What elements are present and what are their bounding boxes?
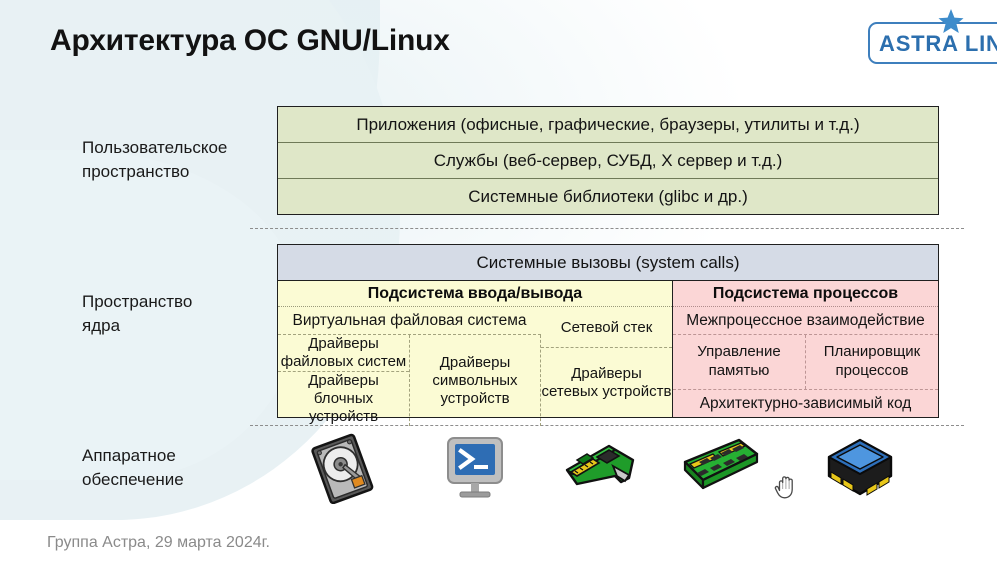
fs-drivers-cell: Драйверы файловых систем [278,335,409,372]
cpu-chip-icon [817,432,903,504]
section-label-userspace: Пользовательское пространство [82,136,227,184]
ipc-cell: Межпроцессное взаимодействие [673,307,938,335]
section-label-kernelspace: Пространство ядра [82,290,192,338]
hand-cursor [774,472,800,502]
slide-canvas: Архитектура ОС GNU/Linux ASTRA LIN Польз… [0,0,997,576]
separator-userspace-kernel [250,228,964,229]
process-mid-group: Управление памятью Планировщик процессов [673,335,938,390]
monitor-terminal-icon [432,432,518,504]
system-calls-bar: Системные вызовы (system calls) [278,245,938,281]
logo-text: ASTRA LIN [879,31,997,57]
io-subsystem-title: Подсистема ввода/вывода [278,281,672,307]
io-subsystem: Подсистема ввода/вывода Виртуальная файл… [278,281,673,417]
userspace-row-applications: Приложения (офисные, графические, браузе… [278,107,938,143]
network-drivers-cell: Драйверы сетевых устройств [541,348,672,417]
userspace-row-services: Службы (веб-сервер, СУБД, X сервер и т.д… [278,143,938,179]
page-title: Архитектура ОС GNU/Linux [50,24,450,58]
block-drivers-cell: Драйверы блочных устройств [278,372,409,426]
hard-disk-icon [299,432,385,504]
section-label-hardware: Аппаратное обеспечение [82,444,184,492]
kernelspace-stack: Системные вызовы (system calls) Подсисте… [277,244,939,418]
process-subsystem-body: Межпроцессное взаимодействие Управление … [673,307,938,417]
io-subsystem-body: Виртуальная файловая система Драйверы фа… [278,307,672,417]
expansion-card-icon [557,432,643,504]
char-drivers-cell: Драйверы символьных устройств [410,335,541,426]
arch-dependent-code-cell: Архитектурно-зависимый код [673,390,938,417]
io-network-column: Сетевой стек Драйверы сетевых устройств [541,307,672,417]
ram-module-icon [677,432,763,504]
userspace-row-libraries: Системные библиотеки (glibc и др.) [278,179,938,214]
slide-footer: Группа Астра, 29 марта 2024г. [47,534,270,552]
hardware-icon-row [277,432,939,504]
io-filesystem-column: Драйверы файловых систем Драйверы блочны… [278,335,410,426]
virtual-file-system-cell: Виртуальная файловая система [278,307,541,335]
network-stack-cell: Сетевой стек [541,307,672,348]
process-subsystem: Подсистема процессов Межпроцессное взаим… [673,281,938,417]
kernel-columns: Подсистема ввода/вывода Виртуальная файл… [278,281,938,417]
astra-linux-logo: ASTRA LIN [868,22,997,64]
io-left-bottom-group: Драйверы файловых систем Драйверы блочны… [278,335,541,426]
process-scheduler-cell: Планировщик процессов [806,335,938,389]
io-left-group: Виртуальная файловая система Драйверы фа… [278,307,541,417]
memory-management-cell: Управление памятью [673,335,806,389]
userspace-stack: Приложения (офисные, графические, браузе… [277,106,939,215]
process-subsystem-title: Подсистема процессов [673,281,938,307]
